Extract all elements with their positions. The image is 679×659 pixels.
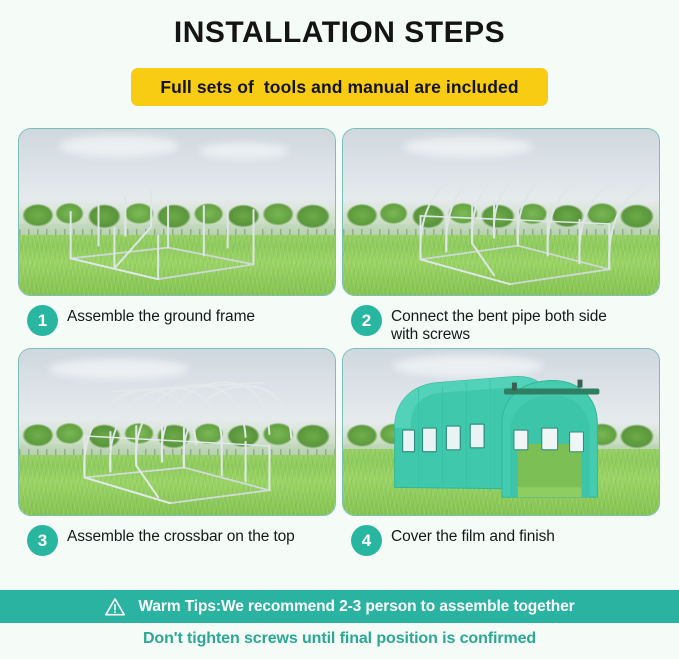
installation-steps-page: INSTALLATION STEPS Full sets of tools an…	[0, 0, 679, 659]
finished-greenhouse-diagram	[343, 349, 659, 515]
bent-pipe-frame-diagram	[343, 129, 659, 295]
ribbon-label: Full sets of tools and manual are includ…	[160, 77, 518, 98]
included-items-ribbon: Full sets of tools and manual are includ…	[131, 68, 548, 106]
step-badge-2: 2	[351, 305, 382, 336]
step-cell-1: 1 Assemble the ground frame	[18, 128, 336, 344]
step-cell-4: 4 Cover the film and finish	[342, 348, 660, 564]
step-2-photo	[342, 128, 660, 296]
step-label-3: Assemble the crossbar on the top	[67, 524, 295, 546]
footer-note: Don't tighten screws until final positio…	[0, 630, 679, 648]
warning-bar: Warm Tips:We recommend 2-3 person to ass…	[0, 590, 679, 623]
step-3-photo	[18, 348, 336, 516]
step-badge-4: 4	[351, 525, 382, 556]
step-4-photo	[342, 348, 660, 516]
step-badge-3: 3	[27, 525, 58, 556]
step-cell-3: 3 Assemble the crossbar on the top	[18, 348, 336, 564]
step-label-1: Assemble the ground frame	[67, 304, 255, 326]
warning-triangle-icon	[104, 596, 126, 618]
ground-frame-diagram	[19, 129, 335, 295]
step-2-caption-row: 2 Connect the bent pipe both side with s…	[342, 304, 660, 344]
step-label-4: Cover the film and finish	[391, 524, 555, 546]
crossbar-frame-diagram	[19, 349, 335, 515]
warning-text: Warm Tips:We recommend 2-3 person to ass…	[138, 598, 574, 616]
step-label-2: Connect the bent pipe both side with scr…	[391, 304, 607, 344]
step-1-photo	[18, 128, 336, 296]
step-4-caption-row: 4 Cover the film and finish	[342, 524, 660, 564]
steps-grid: 1 Assemble the ground frame	[18, 128, 662, 564]
step-3-caption-row: 3 Assemble the crossbar on the top	[18, 524, 336, 564]
page-title: INSTALLATION STEPS	[0, 16, 679, 50]
step-1-caption-row: 1 Assemble the ground frame	[18, 304, 336, 344]
step-cell-2: 2 Connect the bent pipe both side with s…	[342, 128, 660, 344]
step-badge-1: 1	[27, 305, 58, 336]
